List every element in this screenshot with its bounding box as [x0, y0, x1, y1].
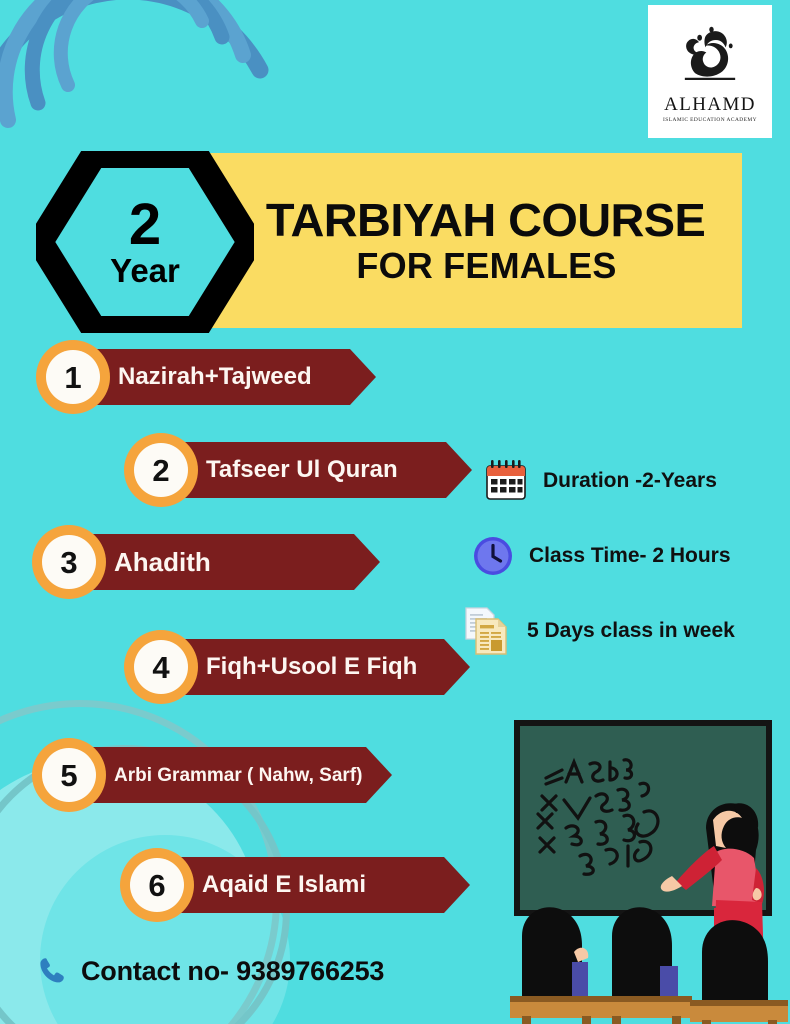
contact-text: Contact no- 9389766253	[81, 956, 384, 987]
duration-badge: 2 Year	[36, 151, 254, 333]
course-ribbon: Arbi Grammar ( Nahw, Sarf)	[70, 747, 392, 803]
logo-subtitle-text: ISLAMIC EDUCATION ACADEMY	[663, 117, 757, 123]
course-item[interactable]: Arbi Grammar ( Nahw, Sarf)5	[32, 738, 392, 812]
documents-icon	[463, 605, 513, 657]
phone-icon	[36, 955, 68, 987]
course-label: Arbi Grammar ( Nahw, Sarf)	[114, 766, 362, 785]
course-ribbon: Tafseer Ul Quran	[162, 442, 472, 498]
course-number: 1	[46, 350, 100, 404]
course-ribbon: Aqaid E Islami	[158, 857, 470, 913]
course-ribbon: Nazirah+Tajweed	[74, 349, 376, 405]
badge-unit: Year	[110, 255, 180, 287]
course-info-item: 5 Days class in week	[463, 605, 735, 657]
course-number: 4	[134, 640, 188, 694]
course-number-badge: 1	[36, 340, 110, 414]
course-label: Aqaid E Islami	[202, 873, 366, 897]
contact-row[interactable]: Contact no- 9389766253	[36, 955, 384, 987]
course-item[interactable]: Fiqh+Usool E Fiqh4	[124, 630, 470, 704]
course-number: 2	[134, 443, 188, 497]
page-subtitle: FOR FEMALES	[330, 247, 616, 285]
course-number-badge: 3	[32, 525, 106, 599]
course-info-text: Class Time- 2 Hours	[529, 544, 731, 568]
arabic-calligraphy-icon	[673, 20, 747, 94]
course-number: 5	[42, 748, 96, 802]
course-info-item: Duration -2-Years	[483, 458, 717, 504]
course-label: Nazirah+Tajweed	[118, 365, 312, 389]
headline-group: TARBIYAH COURSE FOR FEMALES	[205, 153, 742, 328]
poster-canvas: ALHAMD ISLAMIC EDUCATION ACADEMY TARBIYA…	[0, 0, 790, 1024]
course-number-badge: 5	[32, 738, 106, 812]
badge-number: 2	[129, 197, 161, 253]
course-label: Fiqh+Usool E Fiqh	[206, 655, 417, 679]
course-info-text: Duration -2-Years	[543, 469, 717, 493]
course-item[interactable]: Nazirah+Tajweed1	[36, 340, 376, 414]
course-item[interactable]: Tafseer Ul Quran2	[124, 433, 472, 507]
course-number: 6	[130, 858, 184, 912]
academy-logo: ALHAMD ISLAMIC EDUCATION ACADEMY	[648, 5, 772, 138]
course-info-item: Class Time- 2 Hours	[471, 534, 731, 578]
course-number-badge: 6	[120, 848, 194, 922]
page-title: TARBIYAH COURSE	[242, 196, 706, 244]
course-ribbon: Ahadith	[70, 534, 380, 590]
clock-icon	[471, 534, 515, 578]
course-label: Ahadith	[114, 549, 211, 575]
course-number-badge: 4	[124, 630, 198, 704]
course-ribbon: Fiqh+Usool E Fiqh	[162, 639, 470, 695]
course-item[interactable]: Aqaid E Islami6	[120, 848, 470, 922]
course-label: Tafseer Ul Quran	[206, 458, 398, 482]
course-item[interactable]: Ahadith3	[32, 525, 380, 599]
calendar-icon	[483, 458, 529, 504]
course-info-text: 5 Days class in week	[527, 619, 735, 643]
logo-name-text: ALHAMD	[664, 95, 756, 114]
course-number: 3	[42, 535, 96, 589]
classroom-teacher-illustration	[500, 700, 790, 1024]
course-number-badge: 2	[124, 433, 198, 507]
